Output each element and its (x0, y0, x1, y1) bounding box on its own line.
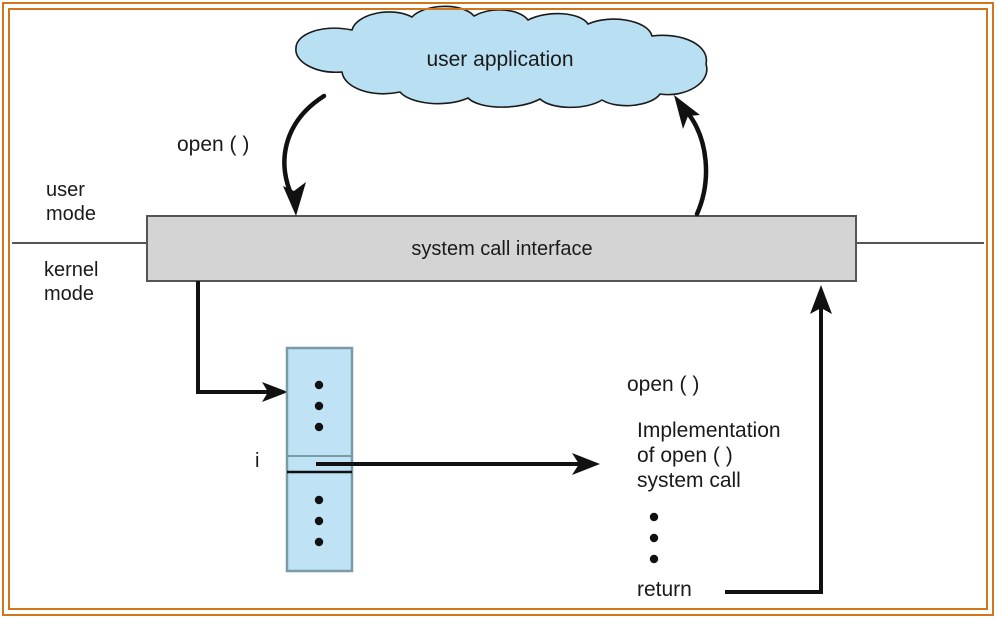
diagram-vector-layer (0, 0, 998, 620)
open-call-label: open ( ) (177, 133, 249, 158)
implementation-body: Implementation of open ( ) system call (637, 419, 781, 493)
table-index-label: i (255, 450, 259, 474)
bar-to-table-arrow (198, 281, 272, 392)
system-call-interface-label: system call interface (148, 238, 856, 262)
implementation-heading: open ( ) (627, 373, 699, 398)
open-call-arrow (284, 96, 324, 198)
table-dot (315, 538, 323, 546)
kernel-mode-label: kernel mode (44, 259, 98, 306)
table-dot (315, 381, 323, 389)
user-application-label: user application (290, 48, 710, 73)
implementation-dot (650, 555, 658, 563)
table-dot (315, 517, 323, 525)
user-mode-label: user mode (46, 179, 96, 226)
implementation-dot (650, 513, 658, 521)
implementation-dot (650, 534, 658, 542)
table-dot (315, 402, 323, 410)
table-dot (315, 496, 323, 504)
figure-canvas: user application system call interface o… (0, 0, 998, 620)
return-to-app-arrow (687, 112, 706, 214)
diagram-stage: user application system call interface o… (0, 0, 998, 620)
return-label: return (637, 578, 692, 603)
table-dot (315, 423, 323, 431)
